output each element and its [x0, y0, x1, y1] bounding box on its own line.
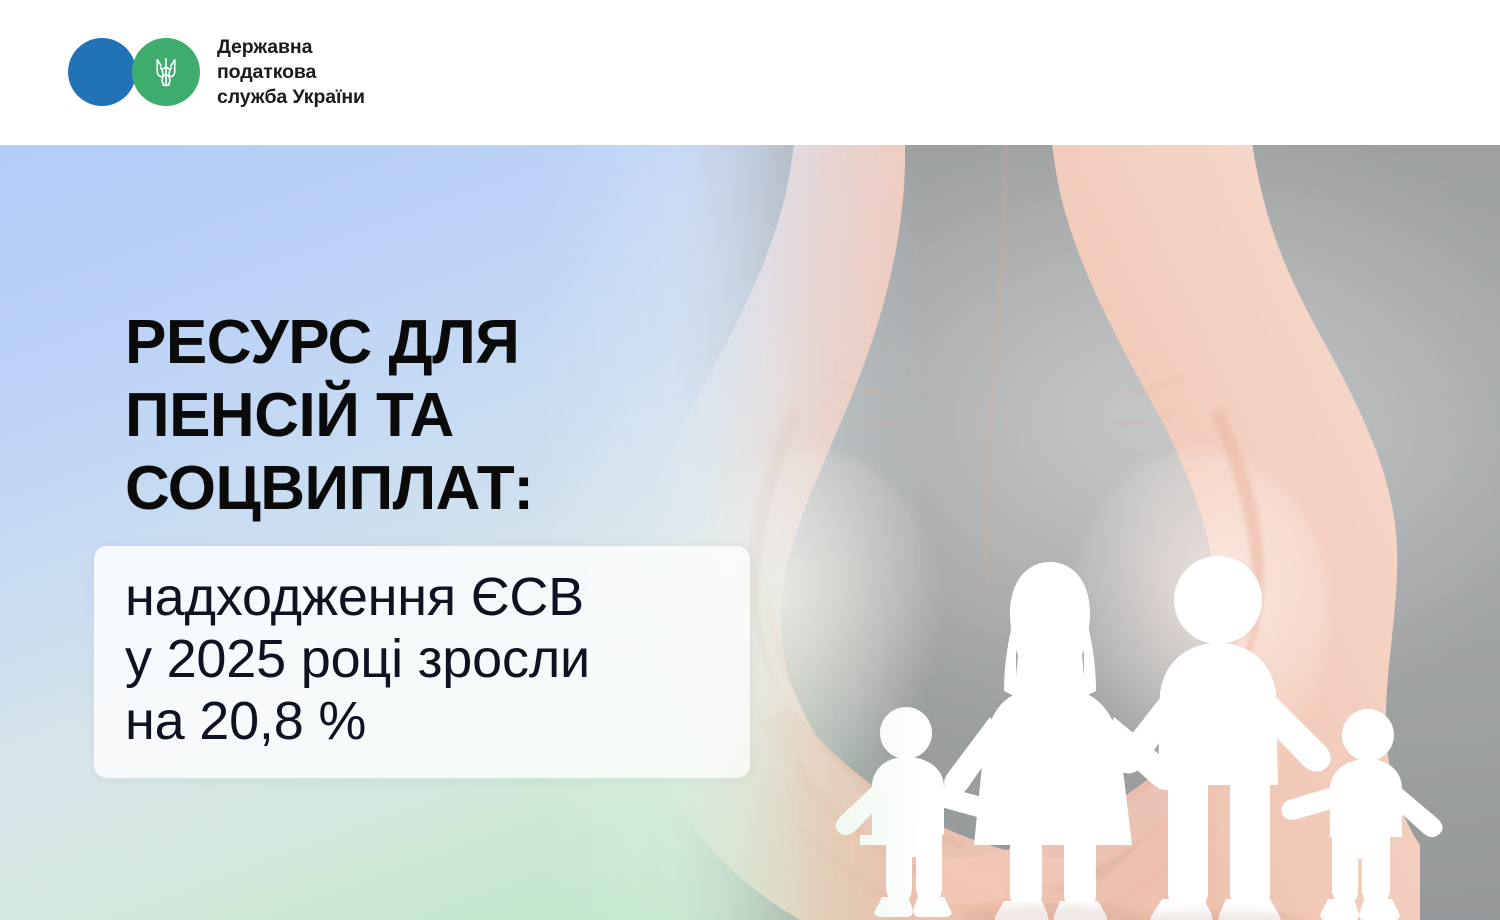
- hero-photograph: [0, 145, 1500, 920]
- page-title: РЕСУРС ДЛЯ ПЕНСІЙ ТА СОЦВИПЛАТ:: [125, 306, 685, 525]
- logo-marks: [68, 38, 200, 106]
- organization-logo[interactable]: Державна податкова служба України: [68, 35, 365, 110]
- page-subtitle: надходження ЄСВ у 2025 році зросли на 20…: [125, 566, 745, 752]
- header-band: Державна податкова служба України: [0, 0, 1500, 145]
- blue-circle-icon: [68, 38, 136, 106]
- hands-illustration: [0, 145, 1500, 920]
- ukrainian-trident-icon: [151, 55, 181, 89]
- green-circle-icon: [132, 38, 200, 106]
- promotional-banner: РЕСУРС ДЛЯ ПЕНСІЙ ТА СОЦВИПЛАТ: надходже…: [0, 0, 1500, 920]
- organization-name: Державна податкова служба України: [217, 35, 365, 110]
